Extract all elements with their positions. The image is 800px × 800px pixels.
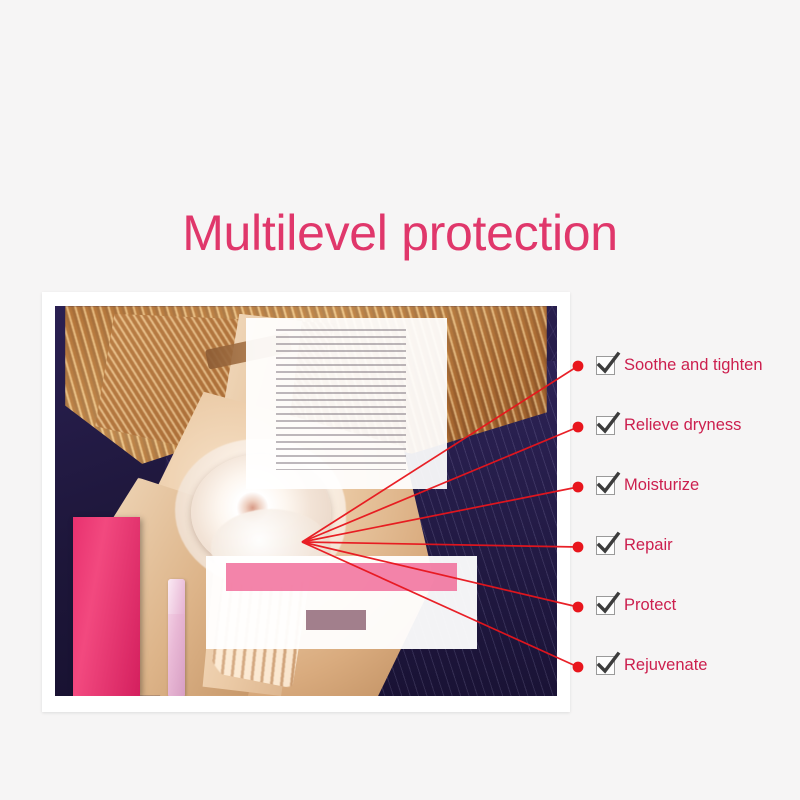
checkbox-checked-icon bbox=[596, 536, 615, 555]
product-box-panel-mark bbox=[306, 610, 366, 630]
checkbox-checked-icon bbox=[596, 356, 615, 375]
feature-label: Protect bbox=[624, 596, 676, 615]
product-box-label-text bbox=[276, 329, 407, 469]
applicator-tube-cap bbox=[168, 579, 185, 614]
feature-item-repair: Repair bbox=[596, 532, 673, 558]
headline-line-1: Multilevel protection bbox=[0, 206, 800, 260]
feature-label: Repair bbox=[624, 536, 673, 555]
product-box bbox=[73, 517, 141, 696]
feature-item-moisturize: Moisturize bbox=[596, 472, 699, 498]
feature-label: Rejuvenate bbox=[624, 656, 707, 675]
feature-item-soothe-and-tighten: Soothe and tighten bbox=[596, 352, 763, 378]
product-box-panel-band bbox=[226, 563, 457, 590]
checkbox-checked-icon bbox=[596, 476, 615, 495]
feature-label: Relieve dryness bbox=[624, 416, 741, 435]
checkbox-checked-icon bbox=[596, 596, 615, 615]
product-lifestyle-photo bbox=[55, 306, 557, 696]
feature-item-protect: Protect bbox=[596, 592, 676, 618]
feature-item-rejuvenate: Rejuvenate bbox=[596, 652, 707, 678]
promo-graphic: Multilevel protection with 6 functions bbox=[0, 0, 800, 800]
checkbox-checked-icon bbox=[596, 416, 615, 435]
callout-dot-4 bbox=[573, 542, 584, 553]
feature-item-relieve-dryness: Relieve dryness bbox=[596, 412, 741, 438]
callout-dot-5 bbox=[573, 602, 584, 613]
checkbox-checked-icon bbox=[596, 656, 615, 675]
feature-label: Moisturize bbox=[624, 476, 699, 495]
photo-frame bbox=[42, 292, 570, 712]
callout-dot-6 bbox=[573, 662, 584, 673]
feature-label: Soothe and tighten bbox=[624, 356, 763, 375]
